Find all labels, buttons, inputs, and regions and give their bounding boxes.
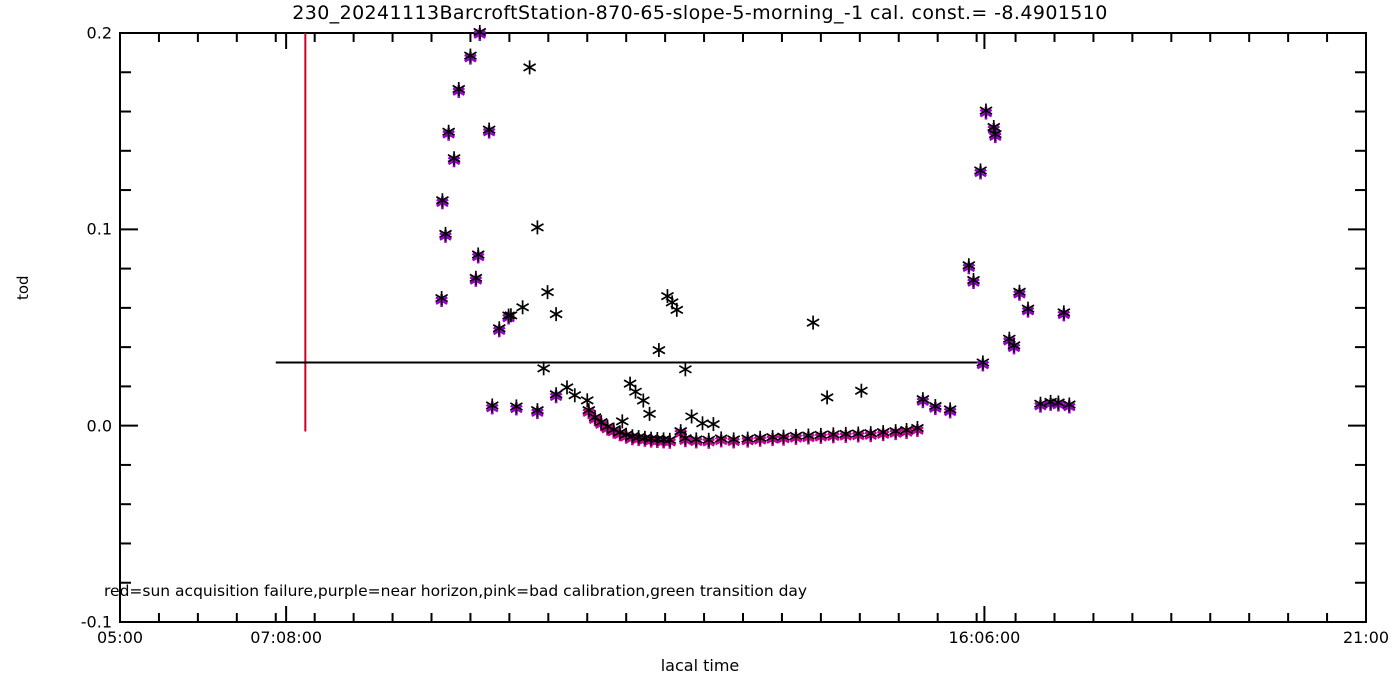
data-point-marker [637,394,649,408]
data-point-marker [643,407,655,421]
data-point-marker [531,220,543,234]
data-point-marker [550,307,562,321]
data-point-marker [807,316,819,330]
data-point-marker [517,300,529,314]
data-point-marker [629,385,641,399]
data-point-marker [686,409,698,423]
data-point-marker [679,362,691,376]
data-point-marker [855,384,867,398]
data-point-marker [696,416,708,430]
data-point-marker [581,393,593,407]
data-point-marker [821,390,833,404]
data-point-marker [653,343,665,357]
data-point-marker [541,285,553,299]
plot-canvas [0,0,1400,700]
data-point-marker [707,417,719,431]
scatter-plot-figure: 230_20241113BarcroftStation-870-65-slope… [0,0,1400,700]
data-point-marker [524,60,536,74]
plot-frame [120,33,1366,622]
